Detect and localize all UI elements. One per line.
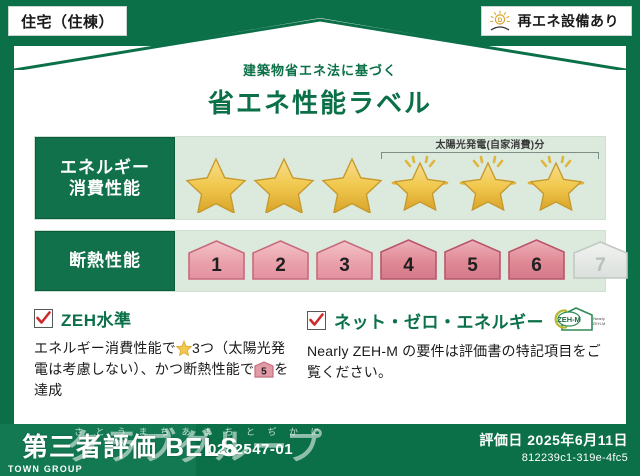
energy-performance-label: 住宅（住棟） D 再エネ設備あり 建築: [0, 0, 640, 476]
zeh-checkbox-checked-icon: [34, 309, 53, 328]
house-grade-icon-2: 2: [249, 238, 312, 284]
building-type-label: 住宅（住棟）: [21, 11, 114, 32]
grade-number-4: 4: [377, 255, 440, 277]
svg-text:ZEH-M: ZEH-M: [593, 321, 606, 326]
watermark-town-group-logo: TOWN GROUP: [8, 464, 83, 474]
energy-performance-label-box: エネルギー 消費性能: [35, 137, 175, 219]
evaluation-code: 812239c1-319e-4fc5: [479, 452, 628, 464]
svg-text:ZEH-M: ZEH-M: [557, 315, 580, 324]
watermark-bels-text: 第三者評価 BELS: [22, 427, 239, 464]
evaluation-date-label: 評価日: [479, 432, 523, 448]
zeh-heading: ZEH水準: [61, 306, 132, 331]
zeh-description: エネルギー消費性能で 3つ（太陽光発電は考慮しない）、かつ断熱性能で 5 を達成: [34, 338, 297, 401]
house-grade-icon-5: 5: [441, 238, 504, 284]
metric-rows: エネルギー 消費性能 太陽光発電(自家消費)分: [14, 136, 626, 292]
net-zero-description: Nearly ZEH-M の要件は評価書の特記項目をご覧ください。: [307, 341, 606, 383]
grade-number-5: 5: [441, 255, 504, 277]
house-grade-icon-4: 4: [377, 238, 440, 284]
house-grade-icon-1: 1: [185, 238, 248, 284]
energy-performance-row: エネルギー 消費性能 太陽光発電(自家消費)分: [34, 136, 606, 220]
grade-number-7: 7: [569, 255, 632, 277]
solar-annotation-label: 太陽光発電(自家消費)分: [381, 136, 599, 151]
evaluation-date: 評価日 2025年6月11日: [479, 430, 628, 450]
zeh-desc-part1: エネルギー消費性能で: [34, 340, 176, 356]
building-type-badge: 住宅（住棟）: [8, 6, 127, 36]
net-zero-heading: ネット・ゼロ・エネルギー: [334, 308, 544, 333]
energy-label-line1: エネルギー: [60, 157, 150, 178]
energy-star-rating: [183, 151, 589, 213]
grade-number-1: 1: [185, 255, 248, 277]
star-icon-inline: [176, 340, 192, 356]
zeh-m-logo-icon: ZEH-M Nearly ZEH-M: [554, 306, 606, 334]
svg-text:5: 5: [261, 367, 267, 378]
insulation-grade-scale: 1 2 3: [185, 238, 632, 284]
sun-solar-icon: D: [488, 10, 512, 32]
net-zero-energy-block: ネット・ゼロ・エネルギー ZEH-M Nearly ZEH-M Nearly Z…: [307, 306, 606, 401]
label-title-block: 建築物省エネ法に基づく 省エネ性能ラベル: [14, 46, 626, 120]
watermark-code: 0282547-01: [208, 441, 293, 458]
star-icon-solar-6: [523, 151, 589, 213]
grade-number-6: 6: [505, 255, 568, 277]
evaluation-info: 評価日 2025年6月11日 812239c1-319e-4fc5: [479, 430, 628, 464]
zeh-standard-block: ZEH水準 エネルギー消費性能で 3つ（太陽光発電は考慮しない）、かつ断熱性能で…: [34, 306, 297, 401]
energy-performance-stars-area: 太陽光発電(自家消費)分: [175, 137, 605, 219]
insulation-performance-row: 断熱性能: [34, 230, 606, 292]
energy-label-line2: 消費性能: [69, 178, 141, 199]
svg-text:D: D: [497, 18, 502, 24]
net-zero-checkbox-checked-icon: [307, 311, 326, 330]
evaluation-date-value: 2025年6月11日: [527, 432, 628, 448]
star-icon-2: [251, 151, 317, 213]
label-subtitle: 建築物省エネ法に基づく: [14, 60, 626, 79]
label-content: 建築物省エネ法に基づく 省エネ性能ラベル エネルギー 消費性能 太陽光発電(自家…: [14, 46, 626, 424]
star-icon-solar-5: [455, 151, 521, 213]
house-grade-icon-inline: 5: [254, 361, 274, 378]
renewable-equipment-label: 再エネ設備あり: [518, 11, 620, 31]
house-grade-icon-7: 7: [569, 238, 632, 284]
insulation-label: 断熱性能: [69, 250, 141, 271]
grade-number-3: 3: [313, 255, 376, 277]
renewable-equipment-badge: D 再エネ設備あり: [481, 6, 633, 36]
zeh-heading-row: ZEH水準: [34, 306, 297, 331]
net-zero-heading-row: ネット・ゼロ・エネルギー ZEH-M Nearly ZEH-M: [307, 306, 606, 334]
label-main-title: 省エネ性能ラベル: [14, 83, 626, 120]
star-icon-3: [319, 151, 385, 213]
grade-number-2: 2: [249, 255, 312, 277]
insulation-performance-label-box: 断熱性能: [35, 231, 175, 291]
house-grade-icon-3: 3: [313, 238, 376, 284]
certification-columns: ZEH水準 エネルギー消費性能で 3つ（太陽光発電は考慮しない）、かつ断熱性能で…: [14, 306, 626, 401]
insulation-grade-area: 1 2 3: [175, 231, 632, 291]
star-icon-solar-4: [387, 151, 453, 213]
house-grade-icon-6: 6: [505, 238, 568, 284]
star-icon-1: [183, 151, 249, 213]
